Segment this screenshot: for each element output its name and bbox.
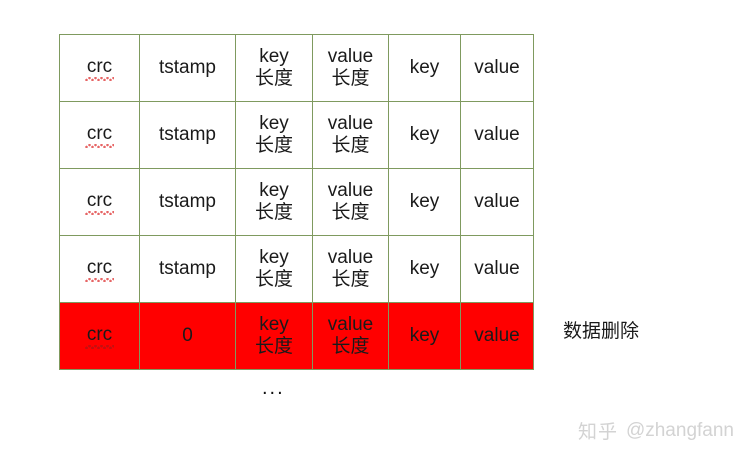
cell-key-length: key 长度: [236, 236, 313, 303]
value-length-line1: value: [315, 314, 386, 336]
cell-value-length: value 长度: [313, 236, 389, 303]
crc-misspelled-text: crc: [87, 257, 112, 281]
cell-key: key: [389, 303, 461, 370]
cell-key: key: [389, 102, 461, 169]
cell-value: value: [461, 303, 534, 370]
key-length-line2: 长度: [238, 269, 310, 291]
value-length-line1: value: [315, 46, 386, 68]
value-length-line2: 长度: [315, 202, 386, 224]
key-length-line1: key: [238, 247, 310, 269]
value-length-line2: 长度: [315, 336, 386, 358]
table-row-deleted: crc 0 key 长度 value 长度 key value: [60, 303, 534, 370]
cell-crc: crc: [60, 236, 140, 303]
record-layout-table: crc tstamp key 长度 value 长度 key value crc…: [59, 34, 534, 370]
crc-misspelled-text: crc: [87, 123, 112, 147]
value-length-line1: value: [315, 113, 386, 135]
record-table-body: crc tstamp key 长度 value 长度 key value crc…: [60, 35, 534, 370]
crc-misspelled-text: crc: [87, 190, 112, 214]
key-length-line1: key: [238, 180, 310, 202]
cell-key-length: key 长度: [236, 169, 313, 236]
cell-value-length: value 长度: [313, 169, 389, 236]
cell-crc: crc: [60, 35, 140, 102]
cell-key-length: key 长度: [236, 303, 313, 370]
cell-key: key: [389, 236, 461, 303]
key-length-line2: 长度: [238, 135, 310, 157]
cell-value: value: [461, 102, 534, 169]
key-length-line2: 长度: [238, 202, 310, 224]
cell-tstamp: tstamp: [140, 169, 236, 236]
cell-value-length: value 长度: [313, 303, 389, 370]
value-length-line1: value: [315, 247, 386, 269]
continuation-ellipsis: ...: [262, 378, 285, 398]
cell-value: value: [461, 169, 534, 236]
key-length-line2: 长度: [238, 336, 310, 358]
cell-crc: crc: [60, 169, 140, 236]
value-length-line2: 长度: [315, 269, 386, 291]
key-length-line1: key: [238, 314, 310, 336]
value-length-line1: value: [315, 180, 386, 202]
deleted-row-annotation: 数据删除: [563, 316, 639, 343]
key-length-line1: key: [238, 46, 310, 68]
cell-key-length: key 长度: [236, 102, 313, 169]
crc-misspelled-text: crc: [87, 56, 112, 80]
value-length-line2: 长度: [315, 135, 386, 157]
key-length-line1: key: [238, 113, 310, 135]
zhihu-logo: 知乎: [578, 417, 618, 444]
cell-key: key: [389, 169, 461, 236]
cell-tstamp: tstamp: [140, 102, 236, 169]
cell-crc: crc: [60, 303, 140, 370]
cell-value: value: [461, 236, 534, 303]
crc-misspelled-text: crc: [87, 324, 112, 348]
cell-tstamp: tstamp: [140, 236, 236, 303]
cell-key: key: [389, 35, 461, 102]
cell-key-length: key 长度: [236, 35, 313, 102]
table-row: crc tstamp key 长度 value 长度 key value: [60, 102, 534, 169]
value-length-line2: 长度: [315, 68, 386, 90]
cell-value-length: value 长度: [313, 35, 389, 102]
cell-crc: crc: [60, 102, 140, 169]
table-row: crc tstamp key 长度 value 长度 key value: [60, 35, 534, 102]
cell-value-length: value 长度: [313, 102, 389, 169]
table-row: crc tstamp key 长度 value 长度 key value: [60, 236, 534, 303]
cell-tstamp: tstamp: [140, 35, 236, 102]
watermark: 知乎 @zhangfann: [578, 417, 734, 444]
cell-tstamp: 0: [140, 303, 236, 370]
cell-value: value: [461, 35, 534, 102]
watermark-handle: @zhangfann: [626, 420, 734, 442]
table-row: crc tstamp key 长度 value 长度 key value: [60, 169, 534, 236]
key-length-line2: 长度: [238, 68, 310, 90]
